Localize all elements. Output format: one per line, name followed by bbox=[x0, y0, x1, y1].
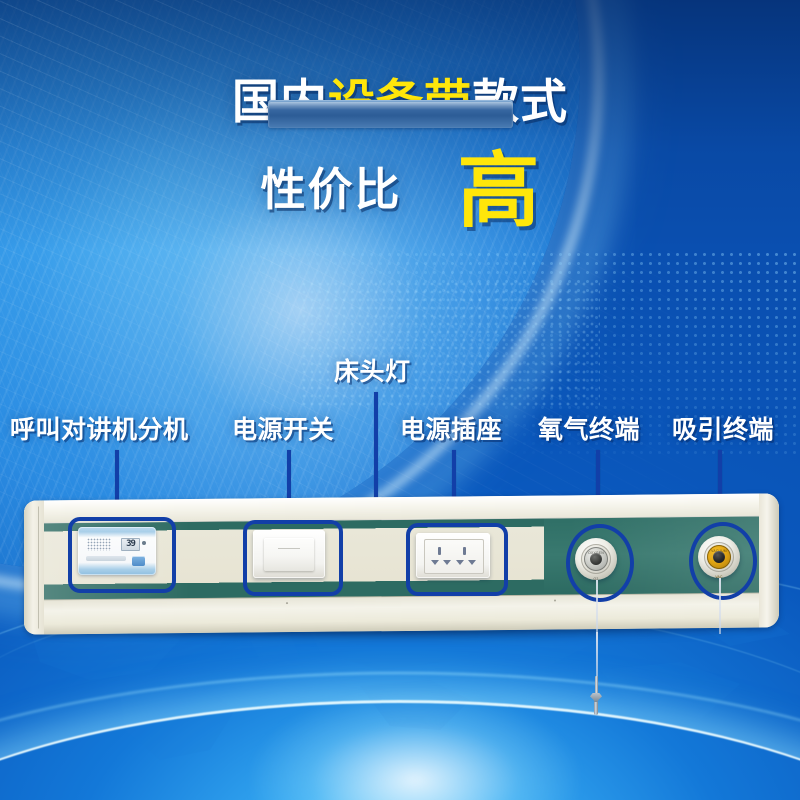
highlight-circle-suction bbox=[689, 522, 757, 600]
bed-lamp-gloss bbox=[268, 102, 513, 110]
call-cord-plug[interactable] bbox=[590, 676, 602, 714]
panel-end-cap-right bbox=[759, 493, 779, 627]
callout-label-intercom: 呼叫对讲机分机 bbox=[10, 418, 189, 443]
plug-tip bbox=[594, 702, 598, 715]
headline-line-2: 性价比高 bbox=[0, 151, 800, 233]
callout-label-suction: 吸引终端 bbox=[672, 418, 774, 443]
headline-seg-4: 性价比 bbox=[260, 164, 401, 215]
highlight-box-intercom bbox=[68, 517, 176, 593]
panel-bottom-cover bbox=[24, 592, 779, 634]
halftone-dots-secondary bbox=[300, 280, 600, 410]
suction-hose-cord bbox=[719, 578, 721, 634]
product-banner: 国内设备带款式 性价比高 呼叫对讲机分机 电源开关 床头灯 电源插座 氧气终端 … bbox=[0, 0, 800, 800]
panel-end-cap-left bbox=[24, 500, 44, 634]
highlight-circle-oxygen bbox=[566, 524, 634, 602]
callout-label-power-switch: 电源开关 bbox=[232, 418, 334, 443]
highlight-box-power-socket bbox=[406, 523, 508, 596]
call-cord-upper bbox=[596, 632, 598, 680]
callout-label-bed-lamp: 床头灯 bbox=[334, 360, 411, 385]
headline-seg-5: 高 bbox=[458, 146, 540, 237]
horizon-glow-core bbox=[250, 690, 580, 800]
callout-label-oxygen: 氧气终端 bbox=[538, 418, 640, 443]
bed-lamp-device[interactable] bbox=[268, 100, 513, 128]
highlight-box-power-switch bbox=[243, 520, 343, 596]
callout-label-power-socket: 电源插座 bbox=[400, 418, 502, 443]
oxygen-hose-cord bbox=[596, 580, 598, 632]
